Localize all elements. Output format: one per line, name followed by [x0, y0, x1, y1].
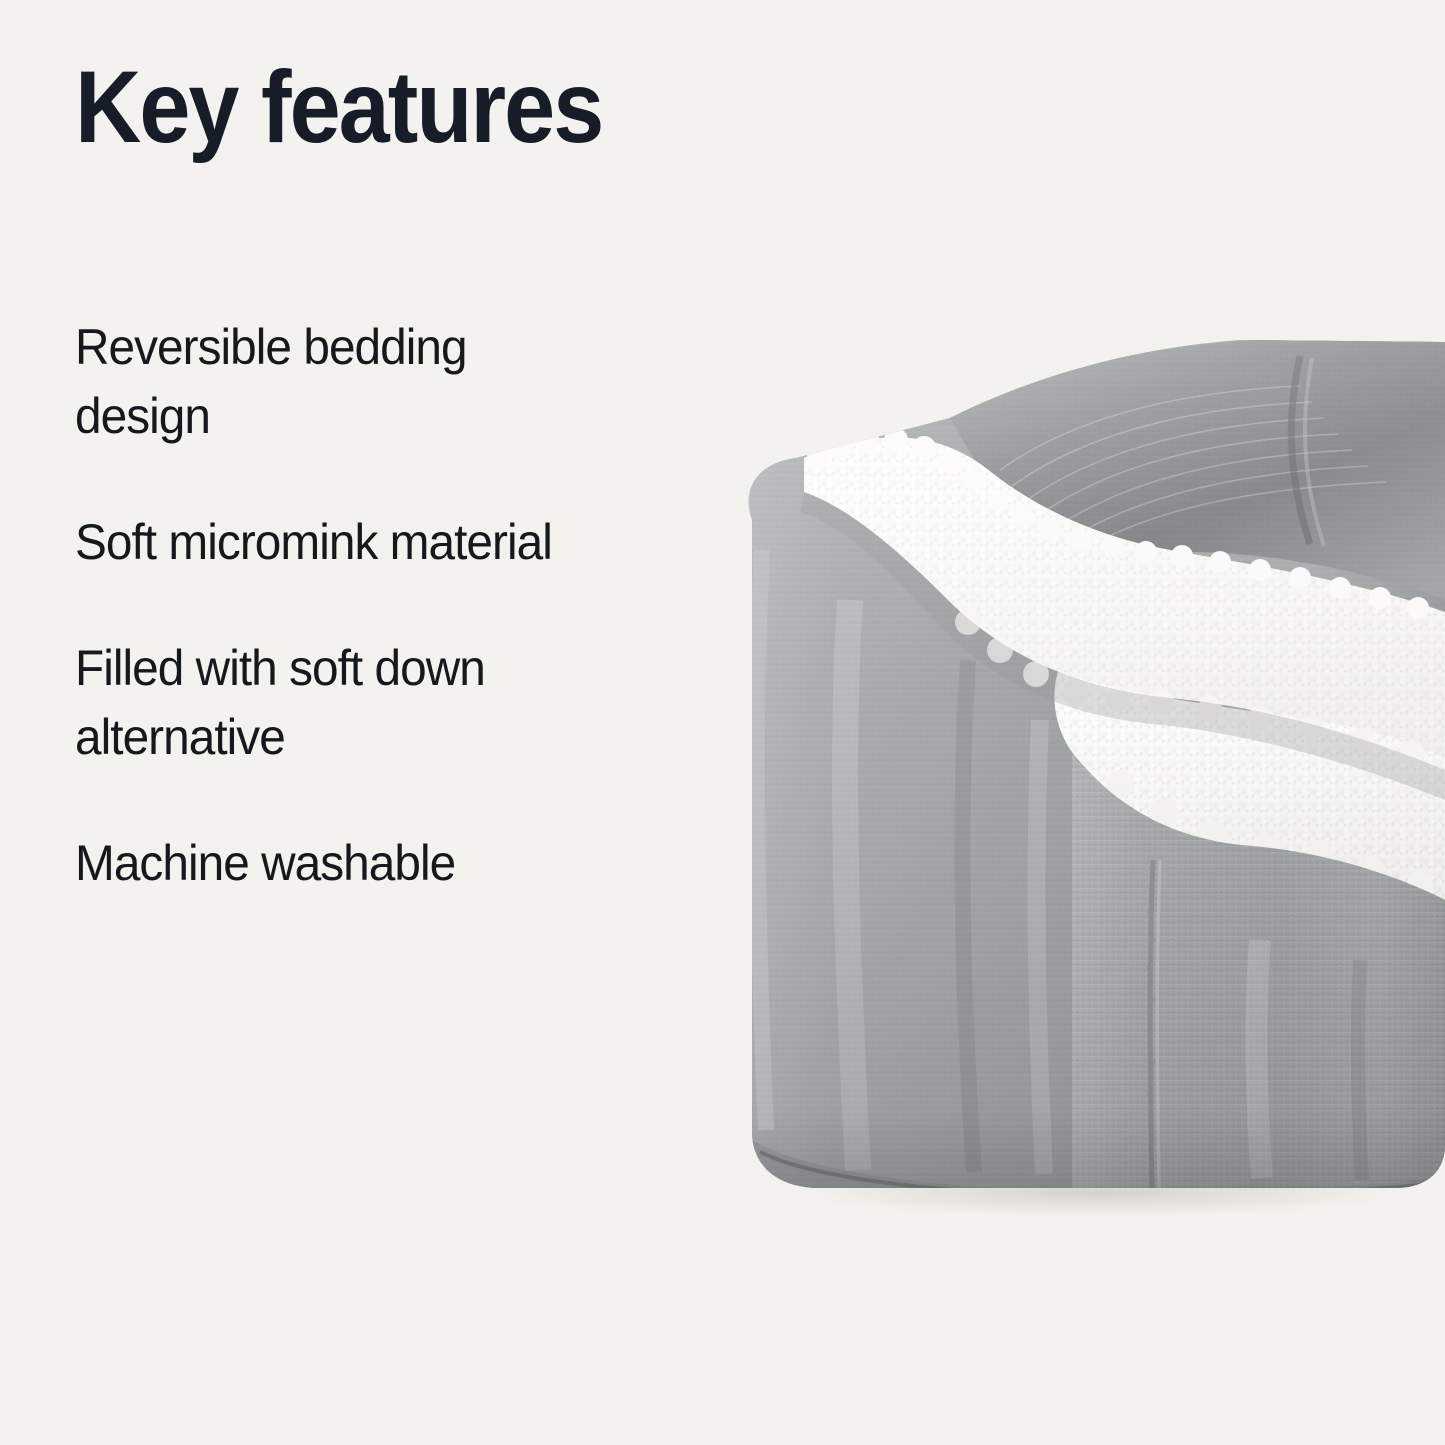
feature-item-filled-with-soft-down-alternative: Filled with soft down alternative: [75, 634, 638, 772]
product-image-folded-blanket: [700, 300, 1445, 1220]
key-features-panel: Key features Reversible bedding design S…: [0, 0, 1445, 1445]
feature-list: Reversible bedding design Soft micromink…: [75, 313, 775, 898]
page-title: Key features: [75, 55, 723, 159]
feature-item-machine-washable: Machine washable: [75, 829, 686, 898]
feature-item-reversible-bedding-design: Reversible bedding design: [75, 313, 486, 451]
feature-text-column: Key features Reversible bedding design S…: [75, 55, 795, 159]
feature-item-soft-micromink-material: Soft micromink material: [75, 508, 686, 577]
